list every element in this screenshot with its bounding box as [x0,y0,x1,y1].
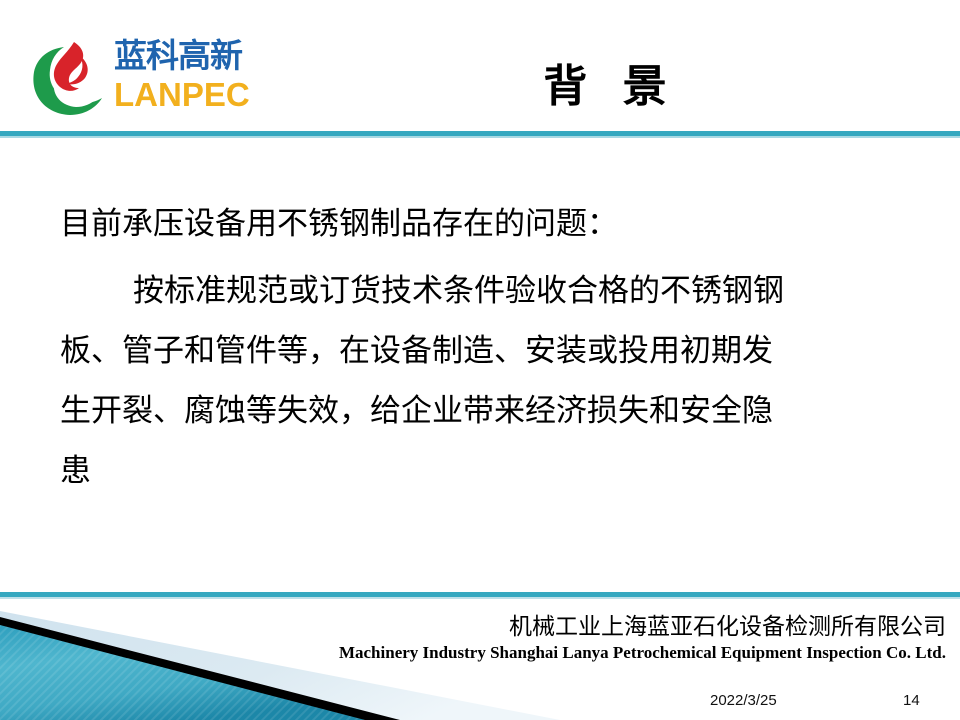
body-text-line: 生开裂、腐蚀等失效，给企业带来经济损失和安全隐 [60,385,940,430]
body-text-line: 目前承压设备用不锈钢制品存在的问题： [60,198,940,243]
body-text-line: 板、管子和管件等，在设备制造、安装或投用初期发 [60,325,940,370]
lanpec-flame-crescent-logo-icon [28,38,106,118]
logo-wordmark: 蓝科高新 LANPEC [114,36,284,118]
footer-company-chinese: 机械工业上海蓝亚石化设备检测所有限公司 [339,614,946,640]
slide-date: 2022/3/25 [710,692,777,709]
body-text-line: 按标准规范或订货技术条件验收合格的不锈钢钢 [133,265,960,310]
slide-footer: 机械工业上海蓝亚石化设备检测所有限公司 Machinery Industry S… [0,592,960,720]
presentation-slide: 蓝科高新 LANPEC 背 景 目前承压设备用不锈钢制品存在的问题： 按标准规范… [0,0,960,720]
logo-chinese-name: 蓝科高新 [114,36,284,76]
body-text-line: 患 [60,445,940,490]
page-title: 背 景 [300,50,920,114]
logo-english-name: LANPEC [114,76,284,114]
slide-page-number: 14 [903,692,920,709]
header-divider-shadow [0,136,960,138]
footer-company-english: Machinery Industry Shanghai Lanya Petroc… [339,643,946,663]
company-logo: 蓝科高新 LANPEC [28,36,268,120]
footer-company-block: 机械工业上海蓝亚石化设备检测所有限公司 Machinery Industry S… [339,614,946,663]
slide-header: 蓝科高新 LANPEC 背 景 [0,0,960,134]
slide-body: 目前承压设备用不锈钢制品存在的问题： 按标准规范或订货技术条件验收合格的不锈钢钢… [0,150,960,590]
